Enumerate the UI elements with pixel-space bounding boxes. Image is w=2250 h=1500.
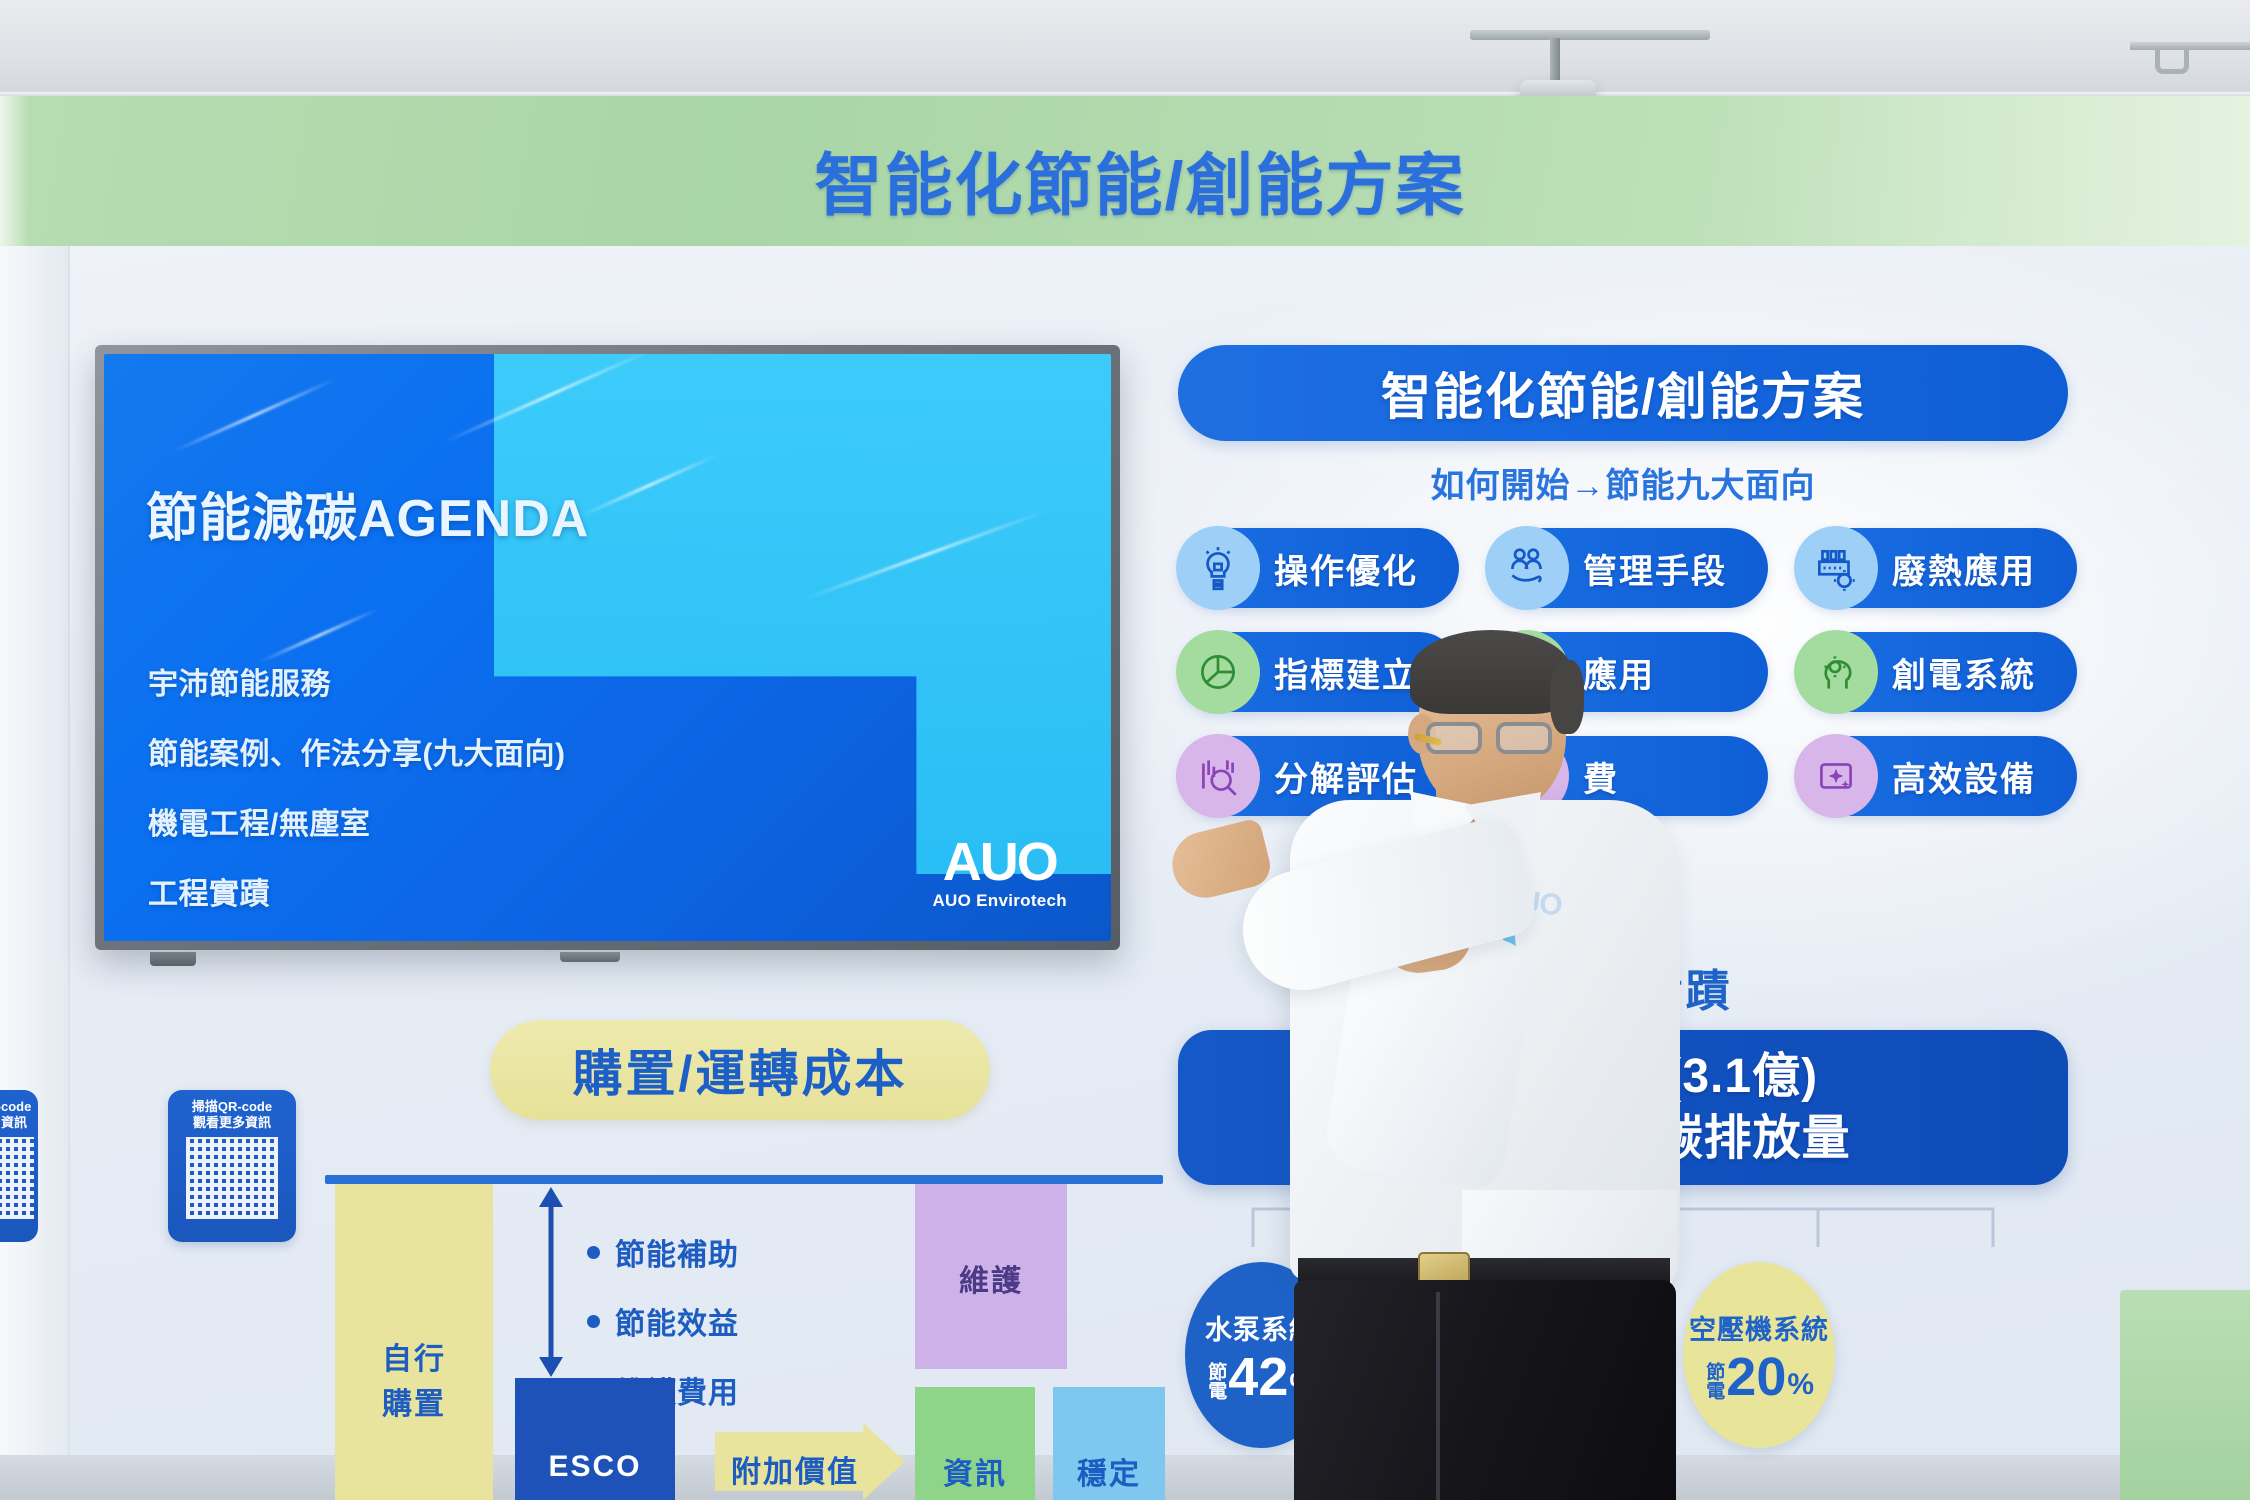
qr-line1: 掃描QR-code xyxy=(176,1099,288,1115)
qr-partial-line1: -code xyxy=(0,1099,34,1115)
factory-gear-icon xyxy=(1794,526,1878,610)
qr-code-image-partial xyxy=(0,1137,34,1219)
slide-bullet: 機電工程/無塵室 xyxy=(148,799,565,843)
cost-section-title-pill: 購置/運轉成本 xyxy=(490,1020,990,1120)
banner-title: 智能化節能/創能方案 xyxy=(690,130,1590,229)
presenter-glasses xyxy=(1426,722,1572,756)
people-hand-icon xyxy=(1485,526,1569,610)
savings-arrow-icon xyxy=(531,1187,571,1377)
pill-label: 管理手段 xyxy=(1583,544,1727,593)
qr-card[interactable]: 掃描QR-code 觀看更多資訊 xyxy=(168,1090,296,1242)
auo-tagline: AUO Envirotech xyxy=(932,891,1067,911)
magnifier-icon xyxy=(1176,734,1260,818)
presenter: AUO xyxy=(1250,630,1810,1500)
cost-section-title: 購置/運轉成本 xyxy=(573,1034,908,1106)
auo-logo: AUO AUO Envirotech xyxy=(932,837,1067,911)
qr-card-partial[interactable]: -code 資訊 xyxy=(0,1090,38,1242)
slide-bullet: 宇沛節能服務 xyxy=(148,659,565,703)
presenter-hair xyxy=(1410,630,1572,714)
slide-bullet: 工程實蹟 xyxy=(148,869,565,913)
wall-left-panel xyxy=(0,246,70,1500)
chart-bar-esco: ESCO xyxy=(515,1378,675,1500)
chart-bar-label: ESCO xyxy=(515,1450,675,1484)
pill-high-efficiency-equipment[interactable]: 高效設備 xyxy=(1796,736,2077,816)
spotlight-clip-icon xyxy=(2155,48,2189,74)
banner-left-highlight xyxy=(0,96,30,246)
auo-wordmark: AUO xyxy=(932,837,1067,888)
savings-bullet: 節能補助 xyxy=(587,1230,739,1274)
chart-bar-label: 穩定 xyxy=(1053,1449,1165,1493)
savings-bullet: 節能效益 xyxy=(587,1299,739,1343)
chart-bar-maintenance: 維護 xyxy=(915,1184,1067,1369)
slide-streak xyxy=(259,608,379,664)
tv-stand-left xyxy=(150,952,196,966)
poster-header: 智能化節能/創能方案 xyxy=(1178,345,2068,441)
chart-bar-added-value: 附加價值 xyxy=(715,1423,905,1500)
chart-bar-label: 購置 xyxy=(335,1379,493,1423)
exhibition-booth-scene: 智能化節能/創能方案 節能減碳AGENDA 宇沛節能服務 節能案例、作法分享(九… xyxy=(0,0,2250,1500)
presenter-trousers xyxy=(1294,1280,1676,1500)
circle-prefix: 節電 xyxy=(1206,1362,1225,1400)
pill-label: 操作優化 xyxy=(1274,544,1418,593)
qr-line2: 觀看更多資訊 xyxy=(176,1115,288,1131)
tv-display: 節能減碳AGENDA 宇沛節能服務 節能案例、作法分享(九大面向) 機電工程/無… xyxy=(95,345,1120,950)
green-pedestal xyxy=(2120,1290,2250,1500)
tv-stand-center xyxy=(560,952,620,962)
pill-label: 高效設備 xyxy=(1892,752,2036,801)
poster-subtitle: 如何開始→節能九大面向 xyxy=(1178,458,2068,507)
qr-partial-line2: 資訊 xyxy=(0,1115,34,1131)
cost-comparison-chart: 自行 購置 節能補助 節能效益 維護費用 ESCO 附加價值 維護 資訊 xyxy=(325,1175,1165,1500)
glasses-lens-left xyxy=(1426,722,1482,754)
chart-bar-label: 資訊 xyxy=(915,1449,1035,1493)
pill-label: 廢熱應用 xyxy=(1892,544,2036,593)
chart-bar-information: 資訊 xyxy=(915,1387,1035,1500)
slide-streak xyxy=(171,378,337,454)
qr-code-image xyxy=(186,1137,278,1219)
chart-bar-label: 附加價值 xyxy=(715,1447,905,1491)
chart-bar-label: 自行 xyxy=(335,1334,493,1378)
slide-cyan-shape xyxy=(494,354,1111,874)
spotlight-rail xyxy=(1470,30,1710,40)
pill-management-method[interactable]: 管理手段 xyxy=(1487,528,1768,608)
pill-operation-optimization[interactable]: 操作優化 xyxy=(1178,528,1459,608)
presenter-trouser-crease xyxy=(1436,1292,1440,1500)
pill-waste-heat-application[interactable]: 廢熱應用 xyxy=(1796,528,2077,608)
chart-bar-stability: 穩定 xyxy=(1053,1387,1165,1500)
slide-bullet-list: 宇沛節能服務 節能案例、作法分享(九大面向) 機電工程/無塵室 工程實蹟 xyxy=(148,659,565,939)
tv-screen: 節能減碳AGENDA 宇沛節能服務 節能案例、作法分享(九大面向) 機電工程/無… xyxy=(104,354,1111,941)
poster-header-title: 智能化節能/創能方案 xyxy=(1381,357,1865,429)
spotlight-rail-secondary xyxy=(2130,42,2250,50)
pill-row-1: 操作優化 管理手段 xyxy=(1178,528,2078,608)
chart-bar-label: 維護 xyxy=(915,1256,1067,1300)
chart-bar-self-purchase: 自行 購置 xyxy=(335,1184,493,1500)
spotlight-arm xyxy=(1550,38,1560,86)
slide-title: 節能減碳AGENDA xyxy=(146,476,589,551)
ceiling xyxy=(0,0,2250,100)
pie-chart-icon xyxy=(1176,630,1260,714)
chart-baseline xyxy=(325,1175,1163,1184)
pill-power-generation-system[interactable]: 創電系統 xyxy=(1796,632,2077,712)
slide-bullet: 節能案例、作法分享(九大面向) xyxy=(148,729,565,773)
pill-label: 創電系統 xyxy=(1892,648,2036,697)
glasses-lens-right xyxy=(1496,722,1552,754)
lightbulb-icon xyxy=(1176,526,1260,610)
